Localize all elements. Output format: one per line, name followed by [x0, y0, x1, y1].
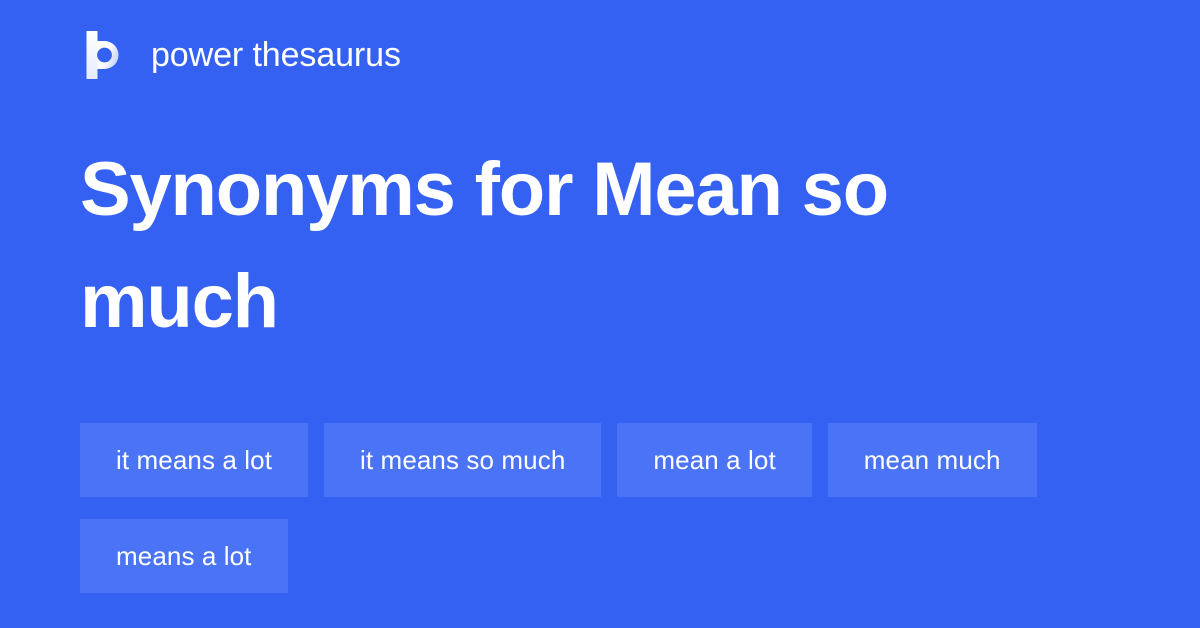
synonym-chip[interactable]: it means a lot: [80, 423, 308, 497]
power-thesaurus-b-mark-icon: [80, 30, 130, 80]
page-title: Synonyms for Mean so much: [80, 134, 1040, 358]
brand-logo[interactable]: power thesaurus: [80, 27, 401, 83]
brand-name: power thesaurus: [151, 38, 401, 72]
share-card: power thesaurus Synonyms for Mean so muc…: [0, 0, 1200, 628]
synonym-chip[interactable]: mean much: [828, 423, 1037, 497]
synonym-chip[interactable]: it means so much: [324, 423, 601, 497]
synonym-chip[interactable]: means a lot: [80, 519, 288, 593]
synonym-chip-list: it means a lot it means so much mean a l…: [80, 423, 1120, 593]
synonym-chip[interactable]: mean a lot: [617, 423, 811, 497]
